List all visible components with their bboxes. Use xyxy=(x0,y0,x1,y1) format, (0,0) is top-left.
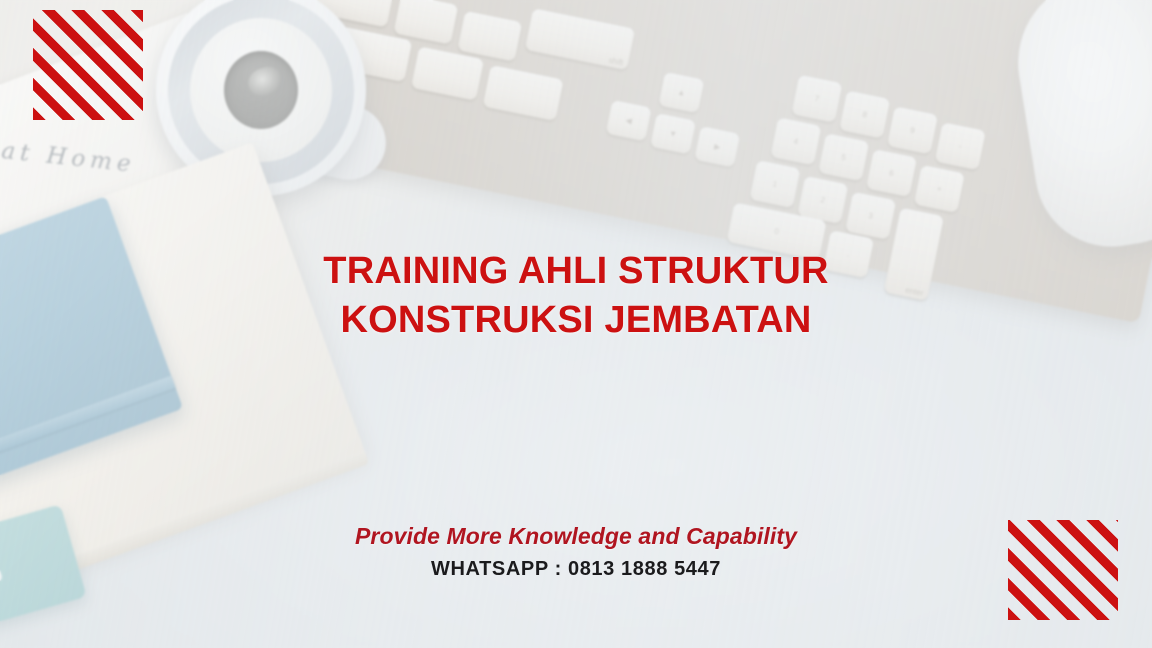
training-promo-banner: shift ▲ ◀ ▼ ▶ xyxy=(0,0,1152,648)
diagonal-stripe-block-top-left xyxy=(33,10,143,120)
page-title: TRAINING AHLI STRUKTUR KONSTRUKSI JEMBAT… xyxy=(0,247,1152,345)
tagline: Provide More Knowledge and Capability xyxy=(0,523,1152,550)
page-title-line-1: TRAINING AHLI STRUKTUR xyxy=(0,247,1152,296)
whatsapp-contact: WHATSAPP : 0813 1888 5447 xyxy=(0,558,1152,581)
page-title-line-2: KONSTRUKSI JEMBATAN xyxy=(0,296,1152,345)
